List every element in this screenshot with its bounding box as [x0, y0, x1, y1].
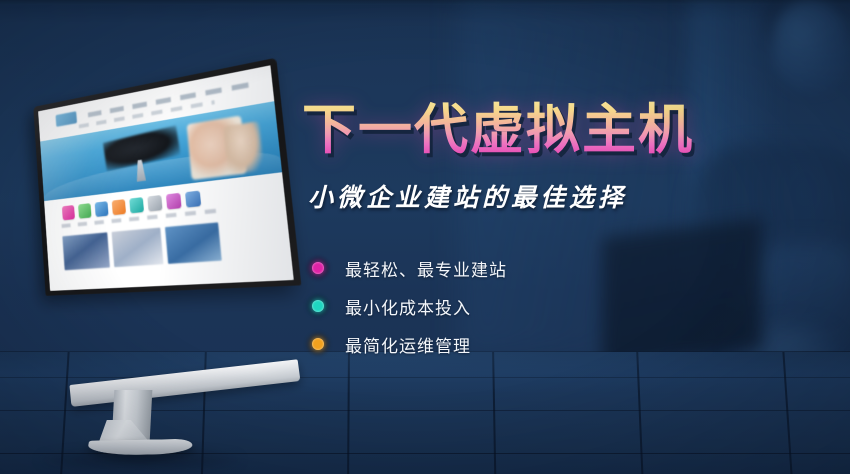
bullet-dot-icon	[305, 293, 331, 319]
feature-list: 最轻松、最专业建站 最小化成本投入 最简化运维管理	[305, 250, 507, 364]
app-tile-icon	[95, 201, 109, 217]
app-tile-icon	[112, 199, 126, 215]
website-hero-person-photo	[187, 115, 247, 180]
floor-vertical-line	[636, 352, 643, 474]
list-item: 最轻松、最专业建站	[305, 250, 507, 286]
app-tile-icon	[129, 197, 144, 213]
app-tile-icon	[185, 191, 201, 208]
website-thumbnail	[165, 222, 222, 264]
bullet-dot	[312, 262, 324, 274]
bullet-dot	[312, 338, 324, 350]
desktop-monitor	[10, 82, 300, 392]
website-thumbnail	[112, 228, 164, 268]
background-laptop-silhouette	[602, 218, 762, 368]
bullet-dot	[312, 300, 324, 312]
feature-label: 最小化成本投入	[345, 294, 471, 319]
monitor-bezel	[33, 58, 301, 296]
feature-label: 最简化运维管理	[345, 332, 471, 357]
floor-vertical-line	[782, 352, 792, 474]
app-tile-icon	[147, 195, 162, 212]
bullet-dot-icon	[305, 255, 331, 281]
website-logo-icon	[56, 111, 78, 127]
bullet-dot-icon	[305, 331, 331, 357]
website-hero-wave	[43, 144, 283, 201]
monitor-screen-shell	[33, 58, 301, 296]
website-hero-person-photo-2	[223, 121, 264, 175]
app-tile-icon	[62, 205, 75, 220]
feature-label: 最轻松、最专业建站	[345, 256, 507, 281]
list-item: 最小化成本投入	[305, 288, 507, 324]
website-nav-placeholder	[88, 81, 257, 118]
list-item: 最简化运维管理	[305, 326, 507, 362]
website-thumbnail	[62, 232, 110, 270]
app-tile-icon	[166, 193, 182, 210]
promo-banner: 下一代虚拟主机 小微企业建站的最佳选择 最轻松、最专业建站 最小化成本投入 最简…	[0, 0, 850, 474]
monitor-screen	[38, 65, 294, 291]
floor-vertical-line	[347, 352, 349, 474]
app-tile-icon	[78, 203, 91, 219]
floor-vertical-line	[492, 352, 496, 474]
person-head	[772, 0, 850, 92]
page-title: 下一代虚拟主机	[302, 100, 694, 159]
page-subtitle: 小微企业建站的最佳选择	[308, 178, 627, 214]
